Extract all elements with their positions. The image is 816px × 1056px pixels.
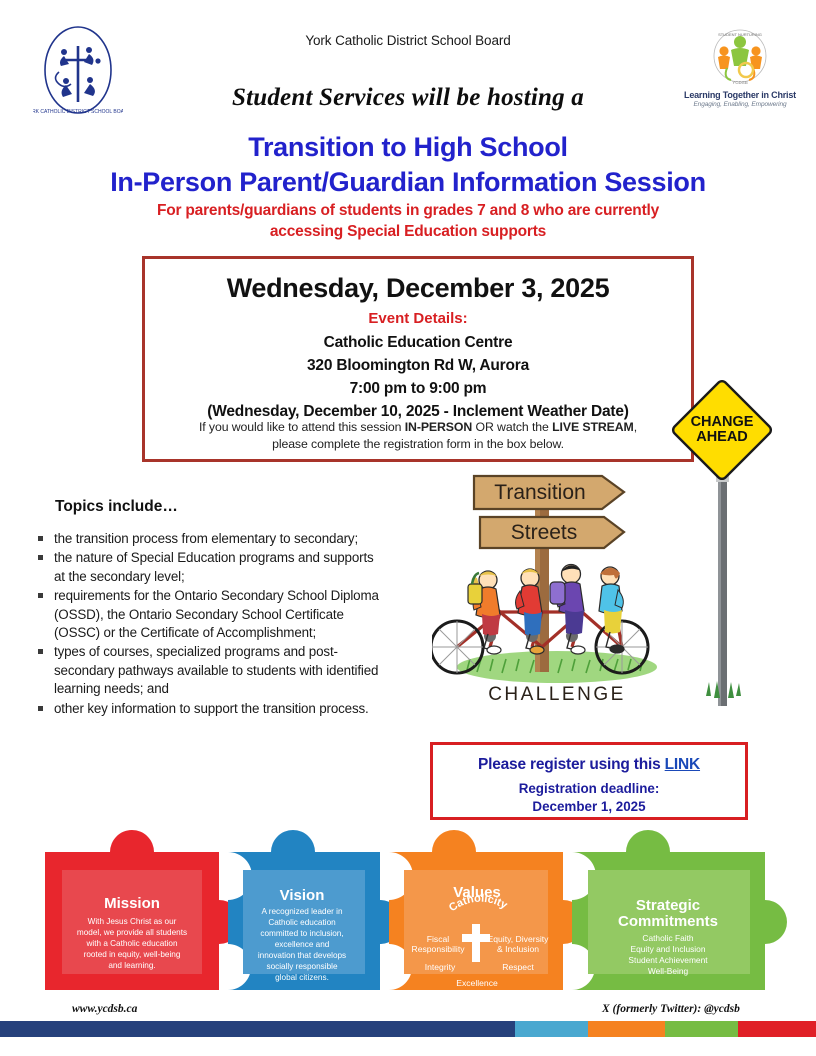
event-details-box: Wednesday, December 3, 2025 Event Detail… (142, 256, 694, 462)
svg-text:Equity and Inclusion: Equity and Inclusion (631, 944, 706, 954)
strip-segment-lightblue (515, 1021, 588, 1037)
bullet-icon (38, 555, 43, 560)
strip-segment-green (665, 1021, 738, 1037)
list-item: requirements for the Ontario Secondary S… (28, 587, 388, 642)
svg-text:With Jesus Christ as our: With Jesus Christ as our (88, 917, 177, 926)
vision-title: Vision (280, 887, 325, 904)
register-text: Please register using this (478, 756, 665, 773)
sign-top-label: Transition (494, 481, 585, 504)
strip-segment-navy (0, 1021, 515, 1037)
svg-text:socially responsible: socially responsible (267, 962, 338, 971)
svg-text:STUDENT NURTURING: STUDENT NURTURING (718, 32, 762, 37)
note-live-stream: LIVE STREAM (552, 420, 634, 434)
footer-website[interactable]: www.ycdsb.ca (72, 1003, 137, 1015)
svg-text:with a Catholic education: with a Catholic education (85, 939, 177, 948)
topic-text: other key information to support the tra… (54, 701, 369, 716)
registration-deadline: Registration deadline: December 1, 2025 (433, 780, 745, 816)
svg-text:Fiscal: Fiscal (427, 934, 450, 944)
hosting-line: Student Services will be hosting a (0, 84, 816, 112)
strip-segment-orange (588, 1021, 665, 1037)
note-prefix: If you would like to attend this session (199, 420, 405, 434)
topic-text: requirements for the Ontario Secondary S… (54, 588, 379, 640)
bullet-icon (38, 649, 43, 654)
list-item: the transition process from elementary t… (28, 530, 388, 548)
svg-text:A recognized leader in: A recognized leader in (261, 907, 342, 916)
strategic-title-line2: Commitments (618, 913, 718, 930)
svg-text:Student Achievement: Student Achievement (628, 955, 708, 965)
strategic-title-line1: Strategic (636, 897, 700, 914)
footer-color-strip (0, 1021, 816, 1037)
topics-list: the transition process from elementary t… (28, 530, 388, 719)
puzzle-piece-values (389, 830, 585, 990)
svg-text:Responsibility: Responsibility (411, 944, 465, 954)
svg-text:committed to inclusion,: committed to inclusion, (260, 929, 343, 938)
event-address: 320 Bloomington Rd W, Aurora (145, 354, 691, 377)
event-attendance-note: If you would like to attend this session… (171, 419, 665, 453)
bullet-icon (38, 593, 43, 598)
svg-text:and learning.: and learning. (108, 961, 155, 970)
road-sign-line1: CHANGE (691, 414, 754, 430)
svg-text:Respect: Respect (502, 962, 534, 972)
flyer-title-line1: Transition to High School (0, 132, 816, 163)
svg-text:Well-Being: Well-Being (648, 966, 689, 976)
svg-text:model, we provide all students: model, we provide all students (77, 928, 187, 937)
registration-box[interactable]: Please register using this LINK Registra… (430, 742, 748, 820)
strip-segment-red (738, 1021, 816, 1037)
list-item: types of courses, specialized programs a… (28, 643, 388, 698)
note-suffix: , (634, 420, 637, 434)
event-time: 7:00 pm to 9:00 pm (145, 377, 691, 400)
flyer-title-line2: In-Person Parent/Guardian Information Se… (0, 167, 816, 198)
svg-text:rooted in equity, well-being: rooted in equity, well-being (84, 950, 181, 959)
note-line2: please complete the registration form in… (171, 436, 665, 453)
note-mid: OR watch the (472, 420, 552, 434)
note-in-person: IN-PERSON (405, 420, 472, 434)
flyer-page: YORK CATHOLIC DISTRICT SCHOOL BOARD York… (0, 0, 816, 1056)
registration-link[interactable]: LINK (665, 756, 700, 773)
svg-text:Catholic Faith: Catholic Faith (642, 933, 694, 943)
topic-text: the transition process from elementary t… (54, 531, 358, 546)
mission-title: Mission (104, 895, 160, 912)
event-venue: Catholic Education Centre (145, 331, 691, 354)
svg-text:innovation that develops: innovation that develops (258, 951, 346, 960)
svg-text:global citizens.: global citizens. (275, 973, 329, 982)
deadline-date: December 1, 2025 (433, 798, 745, 816)
svg-text:Equity, Diversity: Equity, Diversity (488, 934, 550, 944)
illustration-caption: CHALLENGE (488, 684, 626, 705)
transition-streets-illustration: Transition Streets (432, 462, 682, 712)
bullet-icon (38, 706, 43, 711)
flyer-subtitle: For parents/guardians of students in gra… (150, 200, 666, 242)
puzzle-footer-banner: Mission With Jesus Christ as our model, … (0, 822, 816, 1012)
bullet-icon (38, 536, 43, 541)
svg-text:Excellence: Excellence (456, 978, 498, 988)
registration-cta: Please register using this LINK (433, 756, 745, 774)
topic-text: types of courses, specialized programs a… (54, 644, 378, 696)
svg-text:excellence and: excellence and (275, 940, 330, 949)
change-ahead-road-sign-icon: CHANGE AHEAD (668, 378, 778, 708)
road-sign-line2: AHEAD (696, 429, 748, 445)
svg-text:& Inclusion: & Inclusion (497, 944, 539, 954)
list-item: other key information to support the tra… (28, 700, 388, 718)
topic-text: the nature of Special Education programs… (54, 550, 374, 583)
event-location-block: Catholic Education Centre 320 Bloomingto… (145, 331, 691, 423)
event-date: Wednesday, December 3, 2025 (145, 273, 691, 304)
deadline-label: Registration deadline: (433, 780, 745, 798)
footer-twitter-handle[interactable]: X (formerly Twitter): @ycdsb (602, 1003, 740, 1015)
list-item: the nature of Special Education programs… (28, 549, 388, 586)
event-details-label: Event Details: (145, 310, 691, 327)
topics-heading: Topics include… (55, 498, 178, 516)
svg-text:Integrity: Integrity (425, 962, 456, 972)
sign-bottom-label: Streets (511, 521, 578, 544)
svg-text:Catholic education: Catholic education (268, 918, 336, 927)
